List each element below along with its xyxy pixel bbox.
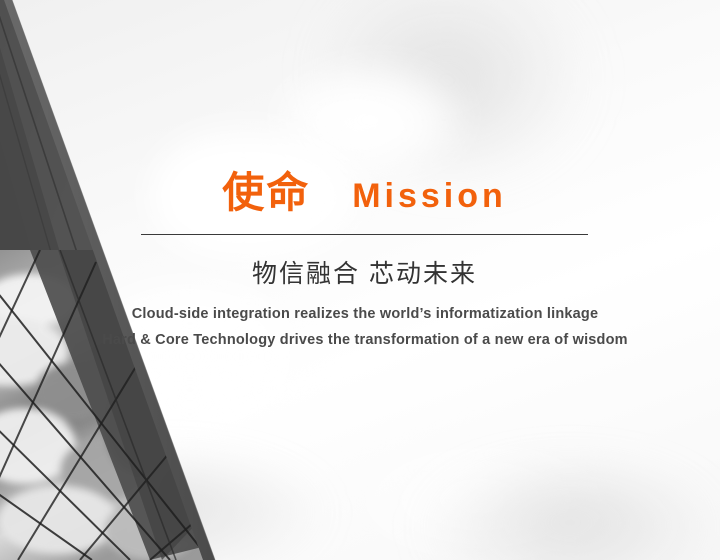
- mission-banner: 使命 Mission 物信融合 芯动未来 Cloud-side integrat…: [0, 0, 720, 560]
- heading-chinese: 使命: [222, 172, 310, 214]
- mission-subtitle: 物信融合 芯动未来: [141, 259, 588, 290]
- mission-body-line-1: Cloud-side integration realizes the worl…: [60, 301, 670, 327]
- heading-english: Mission: [352, 179, 507, 213]
- banner-content: 使命 Mission 物信融合 芯动未来 Cloud-side integrat…: [0, 0, 720, 560]
- mission-body-line-2: Hard & Core Technology drives the transf…: [60, 327, 670, 353]
- mission-body: Cloud-side integration realizes the worl…: [60, 301, 670, 353]
- mission-heading: 使命 Mission: [141, 172, 588, 214]
- heading-divider: [141, 234, 588, 235]
